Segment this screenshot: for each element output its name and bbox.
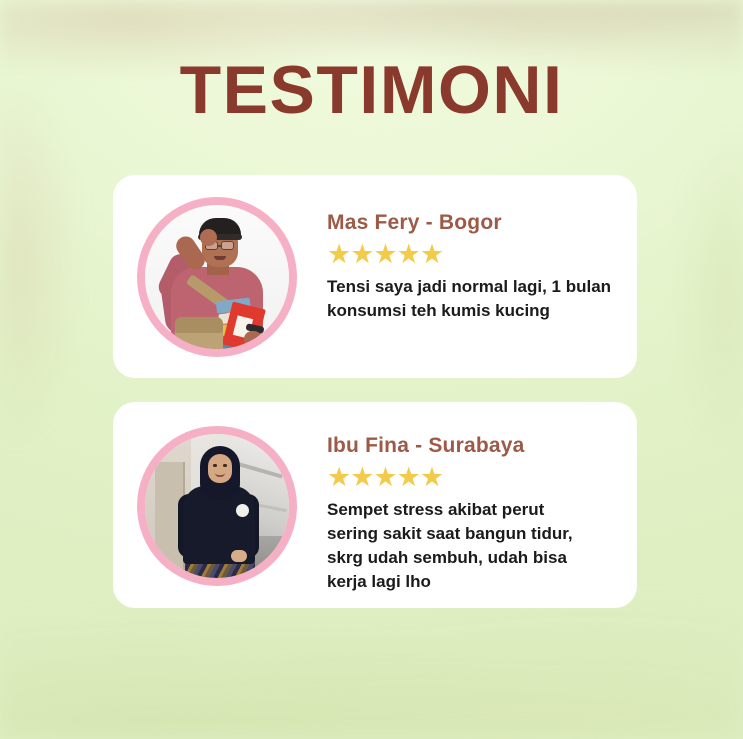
avatar — [145, 434, 289, 578]
avatar — [145, 205, 289, 349]
testimonial-card: Ibu Fina - Surabaya ★★★★★ Sempet stress … — [113, 402, 637, 608]
review-text: Tensi saya jadi normal lagi, 1 bulan kon… — [327, 275, 623, 323]
avatar-eye-left — [213, 464, 217, 467]
avatar-ring — [137, 197, 297, 357]
review-text: Sempet stress akibat perut sering sakit … — [327, 498, 595, 595]
testimonial-body: Ibu Fina - Surabaya ★★★★★ Sempet stress … — [297, 402, 637, 595]
reviewer-name: Mas Fery - Bogor — [327, 211, 623, 234]
testimonial-body: Mas Fery - Bogor ★★★★★ Tensi saya jadi n… — [297, 175, 637, 323]
avatar-hand — [231, 550, 247, 562]
reviewer-name: Ibu Fina - Surabaya — [327, 434, 623, 457]
avatar-glasses-right — [221, 241, 234, 250]
avatar-face — [208, 454, 232, 483]
avatar-glasses-bridge — [217, 245, 222, 247]
avatar-hand-right — [244, 331, 262, 347]
avatar-badge — [236, 504, 249, 517]
page-title: TESTIMONI — [0, 56, 743, 124]
avatar-bag-flap — [175, 317, 223, 333]
rating-stars: ★★★★★ — [327, 464, 623, 491]
testimonial-card: Mas Fery - Bogor ★★★★★ Tensi saya jadi n… — [113, 175, 637, 378]
rating-stars: ★★★★★ — [327, 241, 623, 268]
avatar-eye-right — [223, 464, 227, 467]
avatar-ring — [137, 426, 297, 586]
avatar-hand — [200, 229, 217, 246]
